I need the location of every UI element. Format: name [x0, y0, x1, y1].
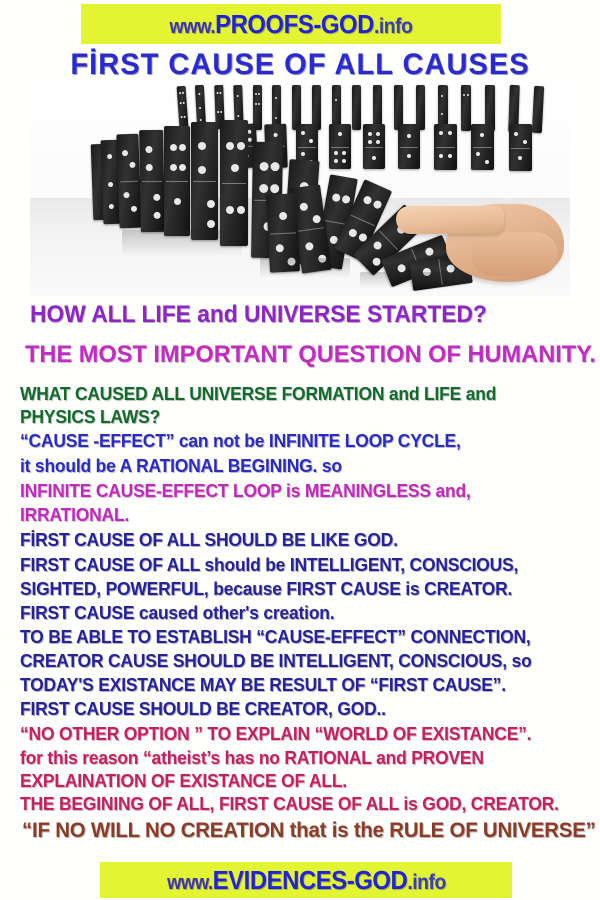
body-line-16: for this reason “atheist’s has no RATION… [20, 749, 484, 767]
poster-page: www.PROOFS-GOD.info FİRST CAUSE OF ALL C… [0, 0, 600, 900]
body-line-6: IRRATIONAL. [20, 506, 129, 524]
body-line-8: FIRST CAUSE OF ALL should be INTELLIGENT… [20, 556, 518, 574]
top-url-banner[interactable]: www.PROOFS-GOD.info [81, 4, 501, 44]
headline-2: THE MOST IMPORTANT QUESTION OF HUMANITY. [25, 343, 596, 367]
headline-1: HOW ALL LIFE and UNIVERSE STARTED? [30, 303, 487, 327]
body-line-15: “NO OTHER OPTION ” TO EXPLAIN “WORLD OF … [20, 725, 531, 743]
body-line-5: INFINITE CAUSE-EFFECT LOOP is MEANINGLES… [20, 482, 471, 500]
body-line-7: FİRST CAUSE OF ALL SHOULD BE LIKE GOD. [20, 531, 398, 549]
body-line-11: TO BE ABLE TO ESTABLISH “CAUSE-EFFECT” C… [20, 628, 531, 646]
body-line-13: TODAY'S EXISTANCE MAY BE RESULT OF “FIRS… [20, 676, 506, 694]
body-line-3: “CAUSE -EFFECT” can not be INFINITE LOOP… [20, 432, 461, 450]
body-line-14: FIRST CAUSE SHOULD BE CREATOR, GOD.. [20, 700, 386, 718]
top-url-www: www. [170, 16, 216, 38]
body-line-12: CREATOR CAUSE SHOULD BE INTELLIGENT, CON… [20, 652, 532, 670]
body-line-10: FIRST CAUSE caused other's creation. [20, 604, 334, 622]
body-line-2: PHYSICS LAWS? [20, 408, 160, 426]
hand-icon [396, 186, 564, 282]
bottom-url-tld: .info [407, 871, 445, 894]
page-title: FİRST CAUSE OF ALL CAUSES [9, 48, 591, 82]
domino-chain-photo [30, 82, 570, 296]
bottom-url-www: www. [167, 872, 213, 894]
body-line-9: SIGHTED, POWERFUL, because FIRST CAUSE i… [20, 580, 512, 598]
closing-quote: “IF NO WILL NO CREATION that is the RULE… [22, 820, 596, 841]
top-url-tld: .info [374, 15, 412, 38]
body-line-17: EXPLAINATION OF EXISTANCE OF ALL. [20, 772, 347, 790]
bottom-url-domain: EVIDENCES-GOD [212, 865, 407, 895]
bottom-url-banner[interactable]: www.EVIDENCES-GOD.info [100, 862, 512, 898]
top-url-text: www.PROOFS-GOD.info [170, 11, 413, 37]
body-line-18: THE BEGINING OF ALL, FIRST CAUSE OF ALL … [20, 795, 559, 813]
body-line-1: WHAT CAUSED ALL UNIVERSE FORMATION and L… [20, 385, 496, 403]
bottom-url-text: www.EVIDENCES-GOD.info [167, 867, 446, 893]
top-url-domain: PROOFS-GOD [215, 9, 374, 39]
body-line-4: it should be A RATIONAL BEGINING. so [20, 457, 342, 475]
